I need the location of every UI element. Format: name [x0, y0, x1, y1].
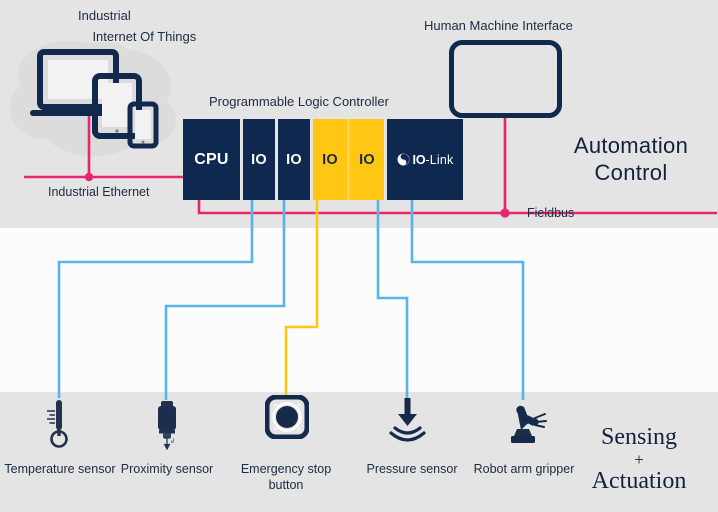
plc-module-cpu[interactable]: CPU	[183, 119, 240, 200]
iiot-smartphone	[127, 101, 165, 157]
plc-module-iolink-label-rest: -Link	[425, 153, 453, 167]
plc-title: Programmable Logic Controller	[209, 94, 389, 110]
diagram-canvas: CPU IO IO IO IO IO-Link	[0, 0, 718, 512]
emergency-stop-icon[interactable]	[265, 395, 309, 439]
robot-arm-icon	[500, 398, 550, 446]
plc-module-iolink-label-bold: IO	[413, 153, 426, 167]
fieldbus-label: Fieldbus	[527, 205, 574, 221]
industrial-ethernet-label: Industrial Ethernet	[48, 184, 149, 200]
plc-module-cpu-label: CPU	[194, 151, 228, 169]
plc-module-io-2-label: IO	[286, 152, 302, 168]
plc-rack[interactable]: CPU IO IO IO IO IO-Link	[183, 119, 463, 200]
plc-module-io-2[interactable]: IO	[278, 119, 310, 200]
iiot-title: Industrial Internet Of Things	[78, 5, 196, 47]
caption-emergency-stop-button: Emergency stop button	[226, 461, 346, 493]
automation-control-heading: Automation Control	[548, 132, 714, 186]
sensing-line-2: Actuation	[592, 468, 687, 494]
plc-module-io-4-label: IO	[359, 152, 375, 168]
proximity-sensor-icon: d	[152, 400, 182, 450]
caption-temperature-sensor: Temperature sensor	[0, 461, 120, 477]
pressure-sensor-icon	[387, 397, 429, 443]
plc-module-iolink[interactable]: IO-Link	[387, 119, 463, 200]
sensing-plus-sign: +	[562, 450, 716, 469]
hmi-screen[interactable]	[449, 40, 562, 118]
background-band-middle	[0, 228, 718, 392]
io-link-logo-icon	[397, 153, 410, 166]
sensing-actuation-heading: Sensing + Actuation	[562, 425, 716, 494]
caption-proximity-sensor: Proximity sensor	[107, 461, 227, 477]
sensing-line-1: Sensing	[601, 424, 677, 450]
thermometer-icon	[42, 398, 76, 450]
plc-module-io-1[interactable]: IO	[243, 119, 275, 200]
plc-module-io-1-label: IO	[251, 152, 267, 168]
hmi-title: Human Machine Interface	[424, 18, 573, 34]
plc-module-io-3-label: IO	[322, 152, 338, 168]
svg-text:d: d	[171, 439, 175, 445]
plc-module-io-4[interactable]: IO	[350, 119, 384, 200]
caption-pressure-sensor: Pressure sensor	[352, 461, 472, 477]
plc-module-io-3[interactable]: IO	[313, 119, 347, 200]
caption-robot-arm-gripper: Robot arm gripper	[464, 461, 584, 477]
